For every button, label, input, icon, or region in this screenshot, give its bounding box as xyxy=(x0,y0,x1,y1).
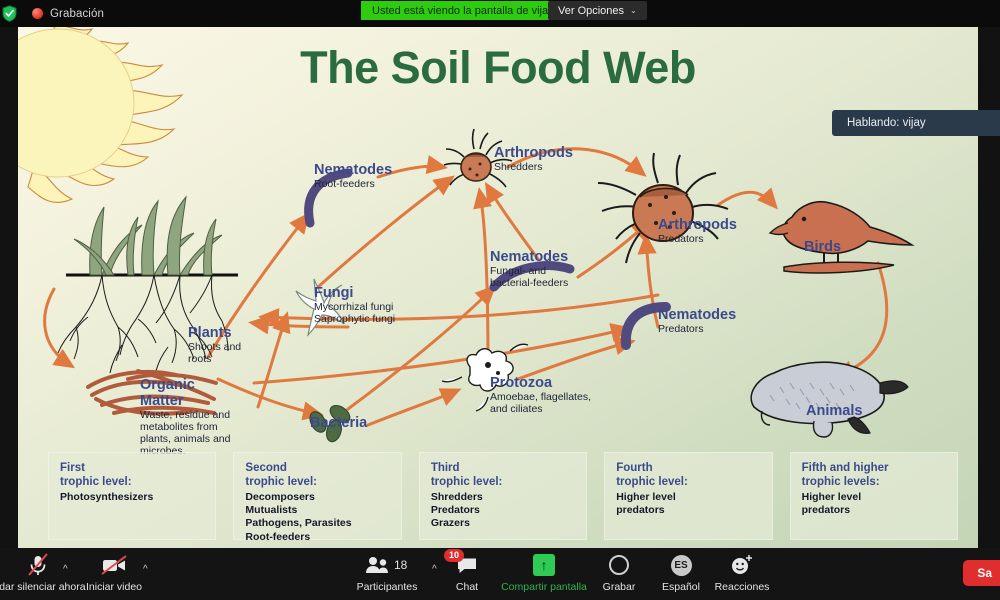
security-shield-icon[interactable] xyxy=(2,5,17,22)
list-item: Pathogens, Parasites xyxy=(245,517,391,530)
trophic-items-5: Higher level predators xyxy=(802,491,948,517)
view-options-button[interactable]: Ver Opciones ⌄ xyxy=(548,1,647,20)
trophic-box-2: Second trophic level: Decomposers Mutual… xyxy=(233,452,401,540)
label-arthropods-pred-sub: Predators xyxy=(658,234,737,246)
label-bacteria-head: Bacteria xyxy=(310,415,367,431)
label-animals-head: Animals xyxy=(806,403,862,419)
top-bar: Grabación Usted está viendo la pantalla … xyxy=(0,0,1000,27)
video-options-caret[interactable]: ^ xyxy=(143,564,148,575)
trophic-title-5: Fifth and higher trophic levels: xyxy=(802,461,948,489)
trophic-items-2: Decomposers Mutualists Pathogens, Parasi… xyxy=(245,491,391,544)
label-nematodes-root-head: Nematodes xyxy=(314,162,392,178)
bird-illustration xyxy=(770,202,912,273)
list-item: Shredders xyxy=(431,491,577,504)
list-item: Root-feeders xyxy=(245,531,391,544)
recording-dot-icon xyxy=(32,8,43,19)
chevron-down-icon: ⌄ xyxy=(630,6,637,15)
participants-button[interactable]: 18 Participantes xyxy=(340,553,434,593)
trophic-title-4: Fourth trophic level: xyxy=(616,461,762,489)
trophic-title-2: Second trophic level: xyxy=(245,461,391,489)
trophic-box-3: Third trophic level: Shredders Predators… xyxy=(419,452,587,540)
chat-unread-badge: 10 xyxy=(444,549,464,562)
screen-share-banner: Usted está viendo la pantalla de vijay xyxy=(361,1,565,20)
active-speaker-text: Hablando: vijay xyxy=(847,117,926,129)
reactions-smiley-icon xyxy=(730,553,754,577)
record-circle-icon xyxy=(609,553,629,577)
label-nematodes-root: Nematodes Root-feeders xyxy=(314,162,392,191)
label-organic-sub: Waste, residue and metabolites from plan… xyxy=(140,410,230,457)
language-icon: ES xyxy=(671,553,692,577)
reactions-button[interactable]: Reacciones xyxy=(696,553,788,593)
leave-meeting-label: Sa xyxy=(977,566,992,580)
label-arthropods-predators: Arthropods Predators xyxy=(658,217,737,246)
language-glyph: ES xyxy=(671,555,692,576)
label-plants-head: Plants xyxy=(188,325,241,341)
chat-label: Chat xyxy=(456,581,478,593)
mute-options-caret[interactable]: ^ xyxy=(63,564,68,575)
list-item: predators xyxy=(802,504,948,517)
video-off-icon xyxy=(101,553,127,577)
label-nematodes-fb-sub: Fungal- and bacterial-feeders xyxy=(490,266,568,290)
label-nematodes-fb-head: Nematodes xyxy=(490,249,568,265)
recording-label: Grabación xyxy=(50,8,104,20)
label-nematodes-pred-sub: Predators xyxy=(658,324,736,336)
record-label: Grabar xyxy=(603,581,636,593)
trophic-items-1: Photosynthesizers xyxy=(60,491,206,504)
list-item: Photosynthesizers xyxy=(60,491,206,504)
zoom-meeting-window: Grabación Usted está viendo la pantalla … xyxy=(0,0,1000,600)
list-item: Higher level xyxy=(802,491,948,504)
label-nematodes-root-sub: Root-feeders xyxy=(314,179,392,191)
label-organic-matter: Organic Matter Waste, residue and metabo… xyxy=(140,377,230,457)
participants-count: 18 xyxy=(394,558,407,572)
share-screen-icon: ↑ xyxy=(533,553,555,577)
trophic-box-4: Fourth trophic level: Higher level preda… xyxy=(604,452,772,540)
label-birds: Birds xyxy=(804,239,841,255)
list-item: Mutualists xyxy=(245,504,391,517)
screen-share-banner-text: Usted está viendo la pantalla de vijay xyxy=(372,5,554,17)
trophic-items-4: Higher level predators xyxy=(616,491,762,517)
label-plants: Plants Shoots and roots xyxy=(188,325,241,366)
label-bacteria: Bacteria xyxy=(310,415,367,431)
trophic-box-5: Fifth and higher trophic levels: Higher … xyxy=(790,452,958,540)
label-protozoa-head: Protozoa xyxy=(490,375,591,391)
label-arthropods-shredders: Arthropods Shredders xyxy=(494,145,573,174)
label-protozoa: Protozoa Amoebae, flagellates, and cilia… xyxy=(490,375,591,416)
leave-meeting-button[interactable]: Sa xyxy=(963,560,1000,586)
label-fungi: Fungi Mycorrhizal fungi Saprophytic fung… xyxy=(314,285,395,326)
label-organic-head: Organic Matter xyxy=(140,377,230,409)
label-arthropods-shred-head: Arthropods xyxy=(494,145,573,161)
list-item: Predators xyxy=(431,504,577,517)
label-animals: Animals xyxy=(806,403,862,419)
trophic-items-3: Shredders Predators Grazers xyxy=(431,491,577,531)
label-fungi-head: Fungi xyxy=(314,285,395,301)
label-nematodes-fb: Nematodes Fungal- and bacterial-feeders xyxy=(490,249,568,290)
list-item: predators xyxy=(616,504,762,517)
label-nematodes-predators: Nematodes Predators xyxy=(658,307,736,336)
label-plants-sub: Shoots and roots xyxy=(188,342,241,366)
video-label: Iniciar video xyxy=(86,581,142,593)
list-item: Grazers xyxy=(431,517,577,530)
label-birds-head: Birds xyxy=(804,239,841,255)
meeting-toolbar: ...dar silenciar ahora ^ Iniciar video ^ xyxy=(0,548,1000,600)
list-item: Decomposers xyxy=(245,491,391,504)
shared-slide: The Soil Food Web xyxy=(18,27,978,548)
reactions-label: Reacciones xyxy=(715,581,770,593)
share-screen-glyph: ↑ xyxy=(533,554,555,576)
chat-icon: 10 xyxy=(456,553,478,577)
view-options-label: Ver Opciones xyxy=(558,5,624,17)
label-nematodes-pred-head: Nematodes xyxy=(658,307,736,323)
label-arthropods-pred-head: Arthropods xyxy=(658,217,737,233)
active-speaker-tooltip: Hablando: vijay xyxy=(832,110,1000,136)
label-arthropods-shred-sub: Shredders xyxy=(494,162,573,174)
trophic-title-1: First trophic level: xyxy=(60,461,206,489)
trophic-title-3: Third trophic level: xyxy=(431,461,577,489)
trophic-box-1: First trophic level: Photosynthesizers xyxy=(48,452,216,540)
language-label: Español xyxy=(662,581,700,593)
participants-label: Participantes xyxy=(357,581,418,593)
label-fungi-sub: Mycorrhizal fungi Saprophytic fungi xyxy=(314,302,395,326)
animals-illustration xyxy=(751,362,908,437)
list-item: Higher level xyxy=(616,491,762,504)
recording-indicator[interactable]: Grabación xyxy=(32,8,104,20)
label-protozoa-sub: Amoebae, flagellates, and ciliates xyxy=(490,392,591,416)
participants-icon: 18 xyxy=(340,553,434,577)
trophic-levels-row: First trophic level: Photosynthesizers S… xyxy=(48,452,958,540)
microphone-muted-icon xyxy=(27,553,49,577)
